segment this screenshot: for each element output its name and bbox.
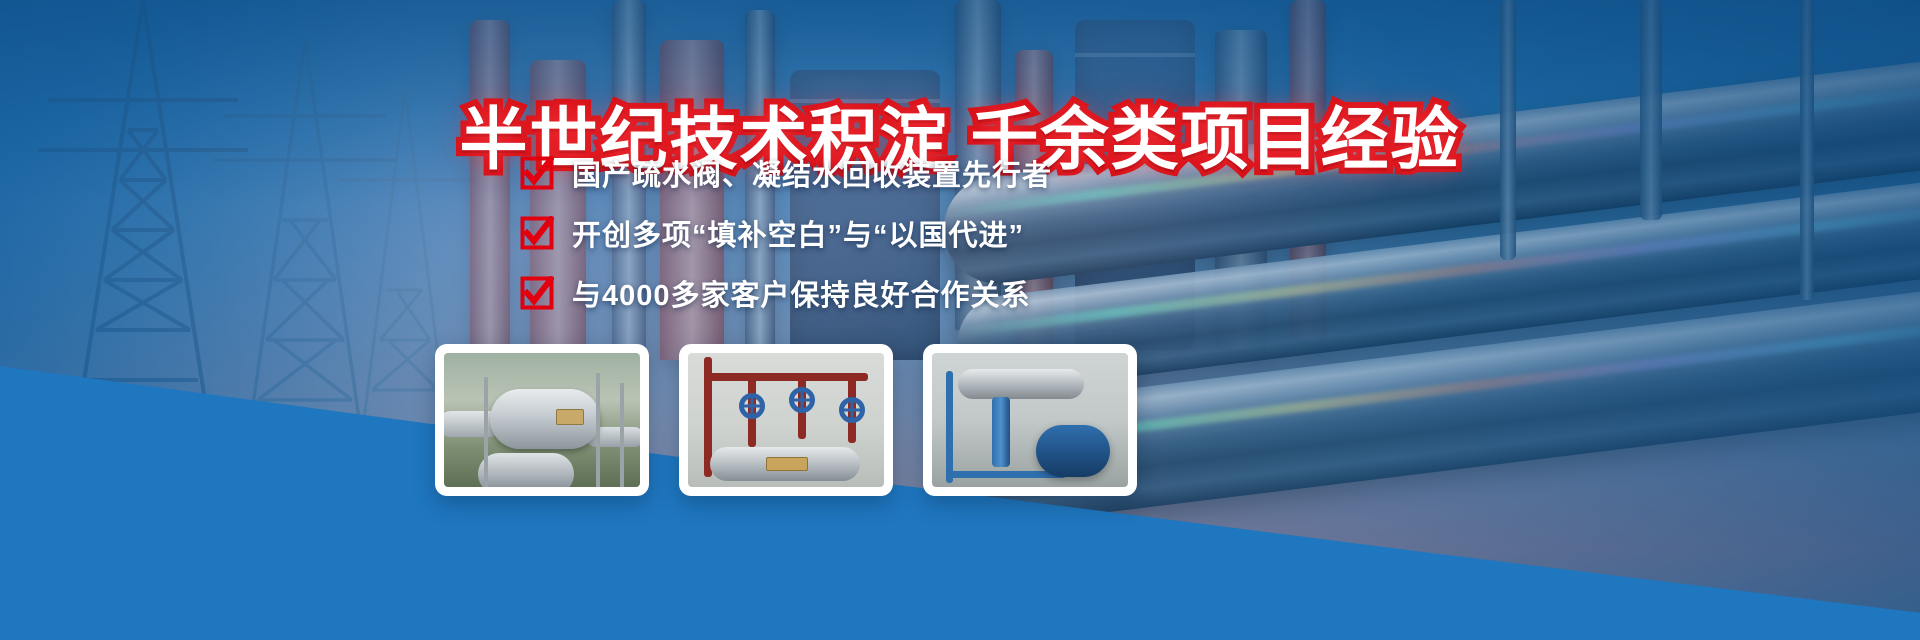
list-item: 国产疏水阀、凝结水回收装置先行者 <box>520 152 1052 194</box>
red-pipework-valves-photo <box>688 353 884 487</box>
photo-post <box>620 383 624 487</box>
photo-post <box>596 373 600 487</box>
checkbox-checked-icon <box>520 276 554 310</box>
checkbox-checked-icon <box>520 216 554 250</box>
photo-handwheel <box>739 393 765 419</box>
blue-condensate-tank-photo <box>932 353 1128 487</box>
list-item: 与4000多家客户保持良好合作关系 <box>520 272 1052 314</box>
list-item-label: 与4000多家客户保持良好合作关系 <box>572 272 1031 314</box>
list-item: 开创多项“填补空白”与“以国代进” <box>520 212 1052 254</box>
photo-handwheel <box>789 387 815 413</box>
photo-post <box>484 377 488 487</box>
photo-nameplate <box>766 457 808 471</box>
product-card <box>923 344 1137 496</box>
photo-handwheel <box>839 397 865 423</box>
photo-pipe <box>704 373 868 381</box>
photo-tank <box>1036 425 1110 477</box>
photo-column <box>992 397 1010 467</box>
product-photo-gallery <box>435 344 1137 496</box>
list-item-label: 开创多项“填补空白”与“以国代进” <box>572 212 1024 254</box>
banner-content: 半世纪技术积淀 千余类项目经验 国产疏水阀、凝结水回收装置先行者 <box>0 0 1920 640</box>
checkbox-checked-icon <box>520 156 554 190</box>
steam-trap-vessel-photo <box>444 353 640 487</box>
product-card <box>679 344 893 496</box>
feature-list: 国产疏水阀、凝结水回收装置先行者 开创多项“填补空白”与“以国代进” <box>520 152 1052 314</box>
photo-pipe <box>946 371 953 483</box>
product-card <box>435 344 649 496</box>
photo-vessel <box>958 369 1084 399</box>
promotional-banner: 半世纪技术积淀 千余类项目经验 国产疏水阀、凝结水回收装置先行者 <box>0 0 1920 640</box>
photo-nameplate <box>556 409 584 425</box>
list-item-label: 国产疏水阀、凝结水回收装置先行者 <box>572 152 1052 194</box>
photo-vessel <box>478 453 574 487</box>
